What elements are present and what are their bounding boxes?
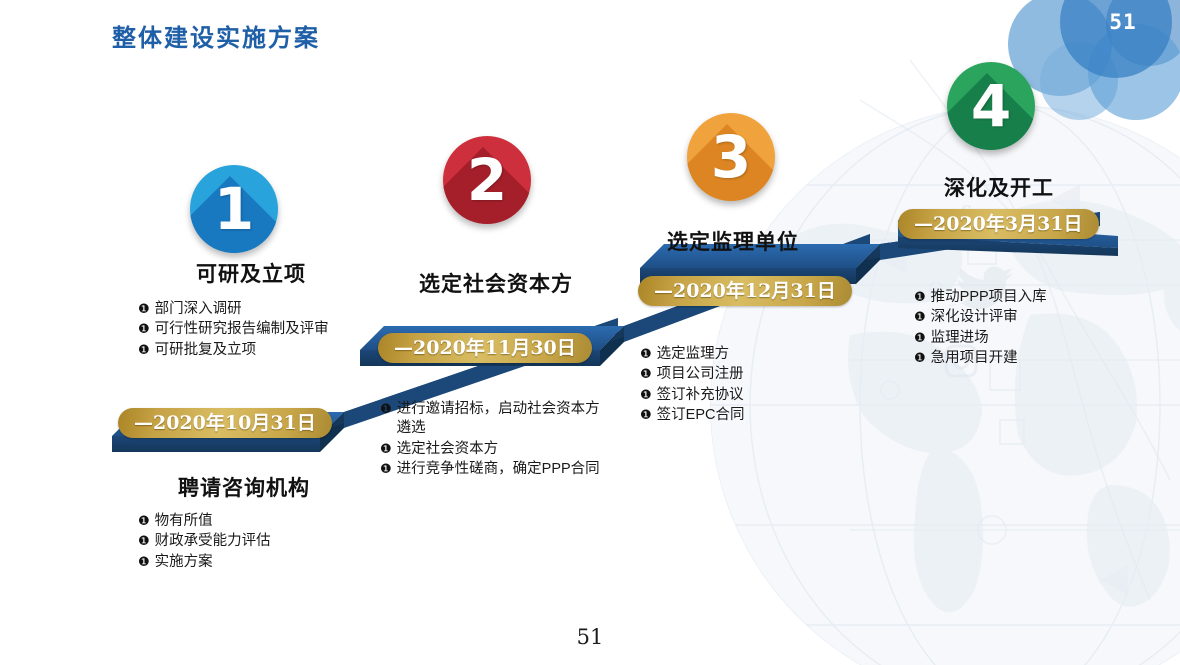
bullet-icon: ❶	[914, 349, 926, 367]
step-3-bullets: ❶选定监理方 ❶项目公司注册 ❶签订补充协议 ❶签订EPC合同	[640, 345, 855, 426]
step-1-bullets-bottom: ❶物有所值 ❶财政承受能力评估 ❶实施方案	[138, 512, 353, 573]
step-1-date-badge: —2020年10月31日	[118, 408, 332, 438]
bubble-shape	[1040, 42, 1118, 120]
bullet-icon: ❶	[640, 406, 652, 424]
step-3-date-badge: —2020年12月31日	[638, 276, 852, 306]
list-item: ❶可行性研究报告编制及评审	[138, 320, 353, 339]
bullet-icon: ❶	[640, 386, 652, 404]
page-title: 整体建设实施方案	[112, 18, 320, 53]
slide-badge-number: 51	[1088, 10, 1158, 34]
list-item: ❶进行竞争性磋商，确定PPP合同	[380, 460, 605, 479]
bullet-icon: ❶	[138, 553, 150, 571]
step-4-number-circle: 4	[947, 62, 1035, 150]
bullet-icon: ❶	[138, 532, 150, 550]
list-item: ❶监理进场	[914, 329, 1129, 348]
bullet-icon: ❶	[914, 308, 926, 326]
bullet-icon: ❶	[640, 345, 652, 363]
list-item: ❶签订补充协议	[640, 386, 855, 405]
list-item: ❶项目公司注册	[640, 365, 855, 384]
step-4-number: 4	[947, 62, 1035, 150]
bubble-shape	[1106, 0, 1180, 66]
slide-canvas: f 51 整体建设实施方案	[0, 0, 1180, 665]
list-item: ❶选定社会资本方	[380, 440, 605, 459]
list-item: ❶进行邀请招标，启动社会资本方遴选	[380, 400, 605, 439]
step-1-bullets-top: ❶部门深入调研 ❶可行性研究报告编制及评审 ❶可研批复及立项	[138, 300, 353, 361]
step-3-title: 选定监理单位	[667, 226, 799, 256]
step-2-number: 2	[443, 136, 531, 224]
bullet-icon: ❶	[914, 288, 926, 306]
list-item: ❶深化设计评审	[914, 308, 1129, 327]
list-item: ❶部门深入调研	[138, 300, 353, 319]
step-4-bullets: ❶推动PPP项目入库 ❶深化设计评审 ❶监理进场 ❶急用项目开建	[914, 288, 1129, 369]
list-item: ❶物有所值	[138, 512, 353, 531]
bullet-icon: ❶	[914, 329, 926, 347]
bullet-icon: ❶	[138, 512, 150, 530]
list-item: ❶推动PPP项目入库	[914, 288, 1129, 307]
bullet-icon: ❶	[640, 365, 652, 383]
list-item: ❶选定监理方	[640, 345, 855, 364]
bubble-shape	[1060, 0, 1172, 78]
list-item: ❶财政承受能力评估	[138, 532, 353, 551]
page-number: 51	[0, 625, 1180, 649]
step-1-number: 1	[190, 165, 278, 253]
step-2-title: 选定社会资本方	[419, 268, 573, 298]
step-1-number-circle: 1	[190, 165, 278, 253]
step-2-number-circle: 2	[443, 136, 531, 224]
step-1-title: 可研及立项	[196, 258, 306, 288]
step-2-bullets: ❶进行邀请招标，启动社会资本方遴选 ❶选定社会资本方 ❶进行竞争性磋商，确定PP…	[380, 400, 605, 480]
step-4-title: 深化及开工	[944, 172, 1054, 202]
step-3-number: 3	[687, 113, 775, 201]
bullet-icon: ❶	[138, 341, 150, 359]
bullet-icon: ❶	[138, 320, 150, 338]
bubble-shape	[1088, 24, 1180, 120]
list-item: ❶可研批复及立项	[138, 341, 353, 360]
bullet-icon: ❶	[380, 440, 392, 458]
step-2-date-badge: —2020年11月30日	[378, 333, 592, 363]
bullet-icon: ❶	[380, 400, 392, 418]
step-1-subtitle: 聘请咨询机构	[178, 472, 310, 502]
bullet-icon: ❶	[380, 460, 392, 478]
list-item: ❶签订EPC合同	[640, 406, 855, 425]
step-4-date-badge: —2020年3月31日	[898, 209, 1099, 239]
step-3-number-circle: 3	[687, 113, 775, 201]
list-item: ❶急用项目开建	[914, 349, 1129, 368]
list-item: ❶实施方案	[138, 553, 353, 572]
bullet-icon: ❶	[138, 300, 150, 318]
